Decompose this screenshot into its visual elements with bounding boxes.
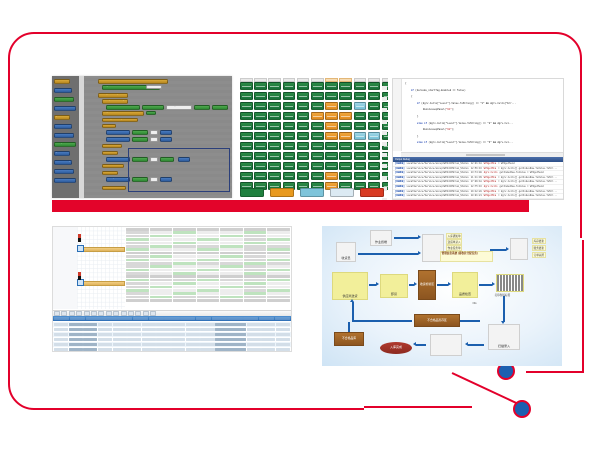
sheet-cell[interactable]: [150, 259, 173, 262]
sheet-cell[interactable]: [173, 299, 196, 302]
sheet-cell[interactable]: [126, 255, 149, 258]
flow-node-unloading[interactable]: 卸货: [380, 274, 408, 298]
sheet-column[interactable]: [173, 228, 196, 309]
sheet-cell[interactable]: [150, 292, 173, 295]
sheet-cell[interactable]: [267, 272, 290, 275]
sheet-cell[interactable]: [126, 296, 149, 299]
matrix-cell[interactable]: [354, 152, 367, 160]
sheet-cell[interactable]: [220, 286, 243, 289]
matrix-cell[interactable]: [268, 152, 281, 160]
sheet-cell[interactable]: [173, 245, 196, 248]
canvas-block[interactable]: set ListView1.Elements to: [106, 105, 140, 110]
sheet-cell[interactable]: [150, 282, 173, 285]
table-column-header[interactable]: [101, 317, 116, 321]
sheet-cell[interactable]: [267, 231, 290, 234]
sheet-cell[interactable]: [126, 231, 149, 234]
matrix-cell[interactable]: [325, 112, 338, 120]
matrix-cell[interactable]: [254, 132, 267, 140]
palette-block[interactable]: set Canvas1.BackgroundColor: [54, 160, 72, 165]
table-column-header[interactable]: [86, 317, 101, 321]
table-column-header[interactable]: [243, 317, 258, 321]
sheet-cell[interactable]: [197, 272, 220, 275]
matrix-cell[interactable]: [240, 142, 253, 150]
sheet-cell[interactable]: [267, 282, 290, 285]
table-column-header[interactable]: [196, 317, 211, 321]
sheet-cell[interactable]: [150, 269, 173, 272]
matrix-cell[interactable]: [339, 142, 352, 150]
sheet-cell[interactable]: [173, 242, 196, 245]
matrix-cell[interactable]: [368, 162, 381, 170]
sheet-cell[interactable]: [126, 262, 149, 265]
matrix-cell[interactable]: [254, 122, 267, 130]
sheet-cell[interactable]: [173, 252, 196, 255]
sheet-cell[interactable]: [173, 286, 196, 289]
matrix-cell[interactable]: [354, 132, 367, 140]
palette-block[interactable]: when Button1.Click: [54, 133, 74, 138]
flow-node-scan-entry[interactable]: 扫描录入: [488, 324, 520, 350]
sheet-cell[interactable]: [267, 299, 290, 302]
sheet-cell[interactable]: [197, 282, 220, 285]
matrix-cell[interactable]: [240, 112, 253, 120]
sheet-cell[interactable]: [197, 259, 220, 262]
sheet-cell[interactable]: [220, 282, 243, 285]
sheet-cell[interactable]: [126, 279, 149, 282]
sheet-cell[interactable]: [173, 272, 196, 275]
canvas-block[interactable]: for each item in list: [106, 157, 130, 162]
matrix-cell[interactable]: [297, 152, 310, 160]
sheet-cell[interactable]: [197, 231, 220, 234]
sheet-cell[interactable]: [244, 279, 267, 282]
code-text-area[interactable]: {if (barcode_startTag.Enabled == false){…: [393, 79, 563, 151]
sheet-cell[interactable]: [267, 262, 290, 265]
matrix-cell[interactable]: [254, 92, 267, 100]
palette-block[interactable]: call TinyDB1.StoreValue: [54, 142, 76, 147]
sheet-cell[interactable]: [173, 279, 196, 282]
flow-node-operator[interactable]: 收货员: [336, 242, 356, 262]
matrix-cell[interactable]: [339, 152, 352, 160]
flow-node-supplier-delivery[interactable]: 供应商送货: [332, 272, 368, 300]
matrix-cell[interactable]: [311, 152, 324, 160]
sheet-cell[interactable]: [197, 248, 220, 251]
matrix-cell[interactable]: [283, 152, 296, 160]
table-column-header[interactable]: [212, 317, 227, 321]
sheet-cell[interactable]: [244, 292, 267, 295]
matrix-cell[interactable]: [283, 162, 296, 170]
matrix-cell[interactable]: [311, 172, 324, 180]
sheet-cell[interactable]: [220, 265, 243, 268]
warehouse-flow-diagram[interactable]: 收货员 作业终端 入库通知单 送货单录入 作业任务单 管理信息系统 (接收并分配…: [322, 226, 562, 366]
sheet-cell[interactable]: [267, 242, 290, 245]
matrix-cell[interactable]: [297, 142, 310, 150]
flow-node-putaway[interactable]: [430, 334, 462, 356]
sheet-cell[interactable]: [173, 262, 196, 265]
palette-block[interactable]: when Clock1.Timer: [54, 169, 74, 174]
sheet-cell[interactable]: [150, 238, 173, 241]
sheet-cell[interactable]: [267, 275, 290, 278]
table-column-header[interactable]: [164, 317, 179, 321]
matrix-cell[interactable]: [297, 172, 310, 180]
sheet-cell[interactable]: [244, 235, 267, 238]
blocks-palette[interactable]: when Screen1.Initializeset Label1.Textca…: [52, 76, 79, 198]
sheet-cell[interactable]: [197, 292, 220, 295]
status-matrix-panel[interactable]: [236, 78, 388, 200]
sheet-cell[interactable]: [244, 275, 267, 278]
sheet-cell[interactable]: [220, 269, 243, 272]
sheet-cell[interactable]: [150, 275, 173, 278]
matrix-cell[interactable]: [268, 92, 281, 100]
matrix-cell[interactable]: [268, 82, 281, 90]
matrix-cell[interactable]: [311, 132, 324, 140]
sheet-cell[interactable]: [126, 265, 149, 268]
gantt-milestone-node[interactable]: [77, 245, 84, 252]
gantt-bar[interactable]: [79, 281, 125, 286]
matrix-cell[interactable]: [240, 172, 253, 180]
sheet-cell[interactable]: [220, 299, 243, 302]
sheet-cell[interactable]: [126, 245, 149, 248]
output-console-panel[interactable]: Output Debug [DEBUG]LocalService/Service…: [393, 157, 563, 199]
sheet-cell[interactable]: [150, 262, 173, 265]
sheet-cell[interactable]: [197, 275, 220, 278]
gantt-milestone-node[interactable]: [77, 279, 84, 286]
sheet-cell[interactable]: [244, 299, 267, 302]
sheet-cell[interactable]: [126, 252, 149, 255]
sheet-cell[interactable]: [126, 282, 149, 285]
sheet-cell[interactable]: [126, 286, 149, 289]
sheet-cell[interactable]: [197, 235, 220, 238]
flow-node-reject-area[interactable]: 不合格品暂存区: [414, 314, 460, 327]
sheet-cell[interactable]: [220, 289, 243, 292]
sheet-cell[interactable]: [197, 238, 220, 241]
sheet-column[interactable]: [197, 228, 220, 309]
sheet-cell[interactable]: [150, 272, 173, 275]
matrix-cell[interactable]: [254, 82, 267, 90]
sheet-cell[interactable]: [173, 255, 196, 258]
sheet-cell[interactable]: [150, 252, 173, 255]
sheet-cell[interactable]: [126, 242, 149, 245]
matrix-cell[interactable]: [325, 132, 338, 140]
matrix-cell[interactable]: [297, 102, 310, 110]
blocks-editor-screenshot[interactable]: when Screen1.Initializeset Label1.Textca…: [52, 76, 232, 198]
spreadsheet-cell-columns[interactable]: [125, 227, 291, 309]
canvas-block[interactable]: call TinyDB1.StoreValue tag value: [102, 99, 128, 104]
matrix-cell[interactable]: [354, 172, 367, 180]
sheet-cell[interactable]: [126, 238, 149, 241]
sheet-cell[interactable]: [244, 248, 267, 251]
sheet-cell[interactable]: [267, 245, 290, 248]
matrix-cell[interactable]: [368, 112, 381, 120]
matrix-cell[interactable]: [368, 82, 381, 90]
matrix-cell[interactable]: [254, 172, 267, 180]
matrix-cell[interactable]: [297, 122, 310, 130]
canvas-block[interactable]: set global Status to: [102, 111, 144, 116]
canvas-block[interactable]: [102, 171, 118, 175]
sheet-cell[interactable]: [220, 259, 243, 262]
sheet-cell[interactable]: [173, 248, 196, 251]
matrix-cell[interactable]: [339, 112, 352, 120]
canvas-block[interactable]: [160, 137, 172, 142]
sheet-cell[interactable]: [126, 235, 149, 238]
sheet-cell[interactable]: [173, 265, 196, 268]
canvas-block[interactable]: [212, 105, 228, 110]
matrix-cell[interactable]: [240, 132, 253, 140]
sheet-cell[interactable]: [197, 296, 220, 299]
matrix-cell[interactable]: [311, 112, 324, 120]
matrix-cell[interactable]: [368, 122, 381, 130]
sheet-cell[interactable]: [150, 255, 173, 258]
sheet-cell[interactable]: [267, 289, 290, 292]
matrix-cell[interactable]: [240, 82, 253, 90]
sheet-cell[interactable]: [267, 228, 290, 231]
sheet-cell[interactable]: [126, 292, 149, 295]
sheet-cell[interactable]: [267, 259, 290, 262]
matrix-cell[interactable]: [325, 102, 338, 110]
sheet-cell[interactable]: [150, 248, 173, 251]
sheet-cell[interactable]: [220, 272, 243, 275]
canvas-block[interactable]: if call Web1.Got Text: [102, 164, 124, 168]
sheet-cell[interactable]: [150, 235, 173, 238]
sheet-cell[interactable]: [244, 252, 267, 255]
sheet-cell[interactable]: [173, 235, 196, 238]
matrix-cell[interactable]: [339, 92, 352, 100]
canvas-block[interactable]: [150, 130, 158, 135]
sheet-cell[interactable]: [244, 269, 267, 272]
matrix-cell[interactable]: [254, 162, 267, 170]
canvas-block[interactable]: when Screen1.Initialize do: [106, 137, 130, 142]
code-editor-panel[interactable]: {if (barcode_startTag.Enabled == false){…: [392, 78, 564, 200]
matrix-cell[interactable]: [240, 122, 253, 130]
matrix-cell[interactable]: [283, 122, 296, 130]
palette-block[interactable]: call Web1.Get: [54, 97, 74, 102]
matrix-cell[interactable]: [339, 102, 352, 110]
matrix-cell[interactable]: [311, 82, 324, 90]
flow-node-inspection-area[interactable]: 收货检验区: [418, 270, 436, 300]
sheet-cell[interactable]: [220, 279, 243, 282]
spreadsheet-panel[interactable]: [52, 226, 292, 352]
sheet-cell[interactable]: [267, 265, 290, 268]
sheet-cell[interactable]: [244, 289, 267, 292]
canvas-block[interactable]: [132, 130, 148, 135]
canvas-block[interactable]: [146, 85, 162, 89]
sheet-cell[interactable]: [220, 242, 243, 245]
canvas-block[interactable]: for each item in list: [142, 105, 164, 110]
canvas-block[interactable]: [150, 137, 158, 142]
sheet-cell[interactable]: [267, 235, 290, 238]
data-table-rows[interactable]: [53, 322, 291, 351]
matrix-cell[interactable]: [297, 92, 310, 100]
table-column-header[interactable]: [275, 317, 290, 321]
code-scrollbar-thumb[interactable]: [466, 154, 505, 156]
table-row[interactable]: [53, 347, 291, 351]
flow-node-inventory-update[interactable]: [510, 238, 528, 260]
sheet-cell[interactable]: [173, 259, 196, 262]
canvas-block[interactable]: [194, 105, 210, 110]
canvas-block[interactable]: set ListView1.Elements to: [106, 130, 130, 135]
sheet-cell[interactable]: [220, 255, 243, 258]
matrix-cell[interactable]: [368, 92, 381, 100]
canvas-block[interactable]: call TinyDB1.StoreValue tag value: [106, 177, 130, 182]
matrix-cell[interactable]: [354, 82, 367, 90]
matrix-cell[interactable]: [297, 82, 310, 90]
matrix-cell[interactable]: [325, 162, 338, 170]
sheet-cell[interactable]: [267, 286, 290, 289]
matrix-cell[interactable]: [297, 112, 310, 120]
flow-node-quality-check[interactable]: 品质检查: [452, 272, 478, 298]
matrix-cell[interactable]: [283, 82, 296, 90]
blocks-canvas[interactable]: when Screen1.Initialize doset global Sta…: [84, 76, 232, 198]
sheet-cell[interactable]: [244, 242, 267, 245]
sheet-cell[interactable]: [126, 228, 149, 231]
sheet-cell[interactable]: [197, 279, 220, 282]
matrix-cell[interactable]: [311, 92, 324, 100]
matrix-cell[interactable]: [268, 102, 281, 110]
flow-node-reject-store[interactable]: 不合格品库: [334, 332, 364, 346]
palette-block[interactable]: get value: [54, 151, 70, 156]
sheet-cell[interactable]: [126, 248, 149, 251]
matrix-cell[interactable]: [339, 82, 352, 90]
matrix-cell[interactable]: [240, 152, 253, 160]
matrix-cell[interactable]: [240, 92, 253, 100]
sheet-cell[interactable]: [173, 275, 196, 278]
canvas-block[interactable]: when Screen1.Initialize do: [98, 79, 168, 84]
matrix-cell[interactable]: [311, 102, 324, 110]
table-column-header[interactable]: [70, 317, 85, 321]
palette-block[interactable]: set ListPicker: [54, 124, 72, 129]
matrix-cell[interactable]: [311, 162, 324, 170]
sheet-cell[interactable]: [173, 289, 196, 292]
sheet-cell[interactable]: [150, 228, 173, 231]
gantt-chart-area[interactable]: [77, 227, 125, 309]
matrix-cell[interactable]: [254, 112, 267, 120]
sheet-cell[interactable]: [173, 282, 196, 285]
sheet-cell[interactable]: [173, 269, 196, 272]
sheet-cell[interactable]: [267, 238, 290, 241]
sheet-cell[interactable]: [267, 248, 290, 251]
canvas-block[interactable]: set Label_Status.Text to join: [98, 93, 128, 98]
matrix-cell[interactable]: [268, 132, 281, 140]
canvas-block[interactable]: [102, 151, 118, 155]
flow-node-barcode-label[interactable]: [496, 274, 524, 292]
sheet-column[interactable]: [150, 228, 173, 309]
matrix-cell[interactable]: [268, 142, 281, 150]
sheet-cell[interactable]: [150, 286, 173, 289]
sheet-cell[interactable]: [126, 269, 149, 272]
sheet-cell[interactable]: [197, 286, 220, 289]
table-column-header[interactable]: [259, 317, 274, 321]
sheet-cell[interactable]: [244, 272, 267, 275]
sheet-cell[interactable]: [220, 235, 243, 238]
matrix-cell[interactable]: [297, 162, 310, 170]
matrix-cell[interactable]: [283, 102, 296, 110]
sheet-cell[interactable]: [220, 245, 243, 248]
matrix-cell[interactable]: [325, 122, 338, 130]
matrix-cell[interactable]: [283, 92, 296, 100]
sheet-cell[interactable]: [220, 292, 243, 295]
matrix-cell[interactable]: [339, 132, 352, 140]
sheet-cell[interactable]: [267, 279, 290, 282]
canvas-block[interactable]: [102, 124, 116, 128]
matrix-cell[interactable]: [325, 152, 338, 160]
canvas-block[interactable]: [132, 137, 148, 142]
table-column-header[interactable]: [227, 317, 242, 321]
flow-node-workstation[interactable]: 作业终端: [370, 230, 392, 246]
flow-node-inbound-done[interactable]: 入库完成: [380, 342, 412, 354]
sheet-column[interactable]: [126, 228, 149, 309]
sheet-cell[interactable]: [197, 252, 220, 255]
matrix-cell[interactable]: [368, 142, 381, 150]
sheet-cell[interactable]: [267, 269, 290, 272]
matrix-cell[interactable]: [268, 162, 281, 170]
matrix-cell[interactable]: [339, 172, 352, 180]
sheet-cell[interactable]: [244, 262, 267, 265]
matrix-cell[interactable]: [368, 132, 381, 140]
sheet-cell[interactable]: [197, 245, 220, 248]
matrix-cell[interactable]: [354, 142, 367, 150]
sheet-cell[interactable]: [173, 231, 196, 234]
sheet-cell[interactable]: [150, 299, 173, 302]
sheet-cell[interactable]: [173, 238, 196, 241]
sheet-column[interactable]: [244, 228, 267, 309]
sheet-cell[interactable]: [220, 228, 243, 231]
sheet-cell[interactable]: [220, 296, 243, 299]
sheet-cell[interactable]: [220, 248, 243, 251]
matrix-cell[interactable]: [268, 122, 281, 130]
sheet-cell[interactable]: [197, 269, 220, 272]
matrix-cell[interactable]: [354, 102, 367, 110]
sheet-cell[interactable]: [220, 262, 243, 265]
matrix-cell[interactable]: [254, 102, 267, 110]
matrix-cell[interactable]: [254, 152, 267, 160]
table-column-header[interactable]: [133, 317, 148, 321]
matrix-cell[interactable]: [368, 102, 381, 110]
matrix-cell[interactable]: [368, 172, 381, 180]
sheet-cell[interactable]: [244, 282, 267, 285]
sheet-cell[interactable]: [126, 272, 149, 275]
matrix-cell[interactable]: [354, 162, 367, 170]
matrix-cell[interactable]: [240, 162, 253, 170]
sheet-cell[interactable]: [150, 245, 173, 248]
sheet-cell[interactable]: [197, 265, 220, 268]
matrix-cell[interactable]: [354, 92, 367, 100]
matrix-cell[interactable]: [283, 172, 296, 180]
matrix-cell[interactable]: [325, 92, 338, 100]
sheet-cell[interactable]: [150, 279, 173, 282]
canvas-block[interactable]: [160, 130, 172, 135]
matrix-cell[interactable]: [311, 122, 324, 130]
palette-block[interactable]: close screen: [54, 178, 76, 183]
sheet-cell[interactable]: [173, 296, 196, 299]
sheet-cell[interactable]: [220, 275, 243, 278]
matrix-cell[interactable]: [240, 102, 253, 110]
sheet-cell[interactable]: [220, 231, 243, 234]
sheet-cell[interactable]: [267, 296, 290, 299]
palette-block[interactable]: when Screen1.Initialize: [54, 79, 70, 84]
matrix-cell[interactable]: [354, 112, 367, 120]
matrix-cell[interactable]: [325, 172, 338, 180]
table-column-header[interactable]: [54, 317, 69, 321]
sheet-column[interactable]: [267, 228, 290, 309]
table-column-header[interactable]: [117, 317, 132, 321]
matrix-cell[interactable]: [283, 142, 296, 150]
canvas-block[interactable]: [102, 144, 122, 148]
sheet-cell[interactable]: [220, 252, 243, 255]
sheet-cell[interactable]: [126, 275, 149, 278]
sheet-cell[interactable]: [244, 255, 267, 258]
matrix-cell[interactable]: [368, 152, 381, 160]
sheet-cell[interactable]: [244, 286, 267, 289]
sheet-cell[interactable]: [150, 289, 173, 292]
matrix-cell[interactable]: [268, 172, 281, 180]
sheet-cell[interactable]: [173, 292, 196, 295]
